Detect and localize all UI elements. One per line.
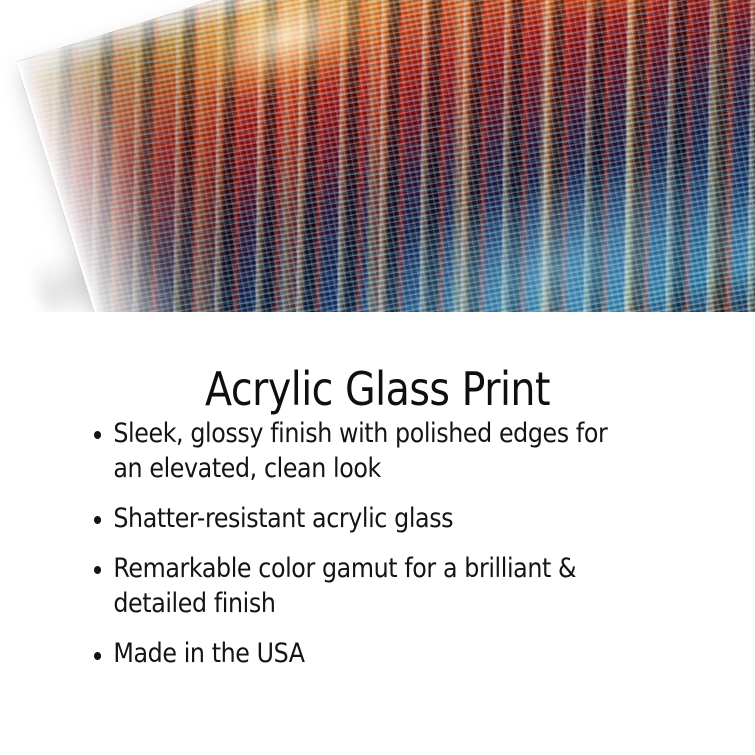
acrylic-polished-edge-bevel [16,0,755,312]
list-item: Made in the USA [94,636,631,671]
feature-text: Remarkable color gamut for a brilliant &… [113,553,576,619]
page-title: Acrylic Glass Print [53,366,702,412]
feature-text: Sleek, glossy finish with polished edges… [113,418,607,484]
product-copy-block: Acrylic Glass Print Sleek, glossy finish… [0,312,755,755]
bullet-dot-icon [94,566,101,574]
list-item: Remarkable color gamut for a brilliant &… [94,551,631,621]
list-item: Shatter-resistant acrylic glass [94,501,631,536]
product-hero-image[interactable] [0,0,755,312]
acrylic-print-panel [16,0,755,312]
bullet-dot-icon [94,431,101,439]
product-feature-card: Acrylic Glass Print Sleek, glossy finish… [0,0,755,755]
bullet-dot-icon [94,652,101,660]
feature-text: Shatter-resistant acrylic glass [113,503,453,534]
feature-text: Made in the USA [113,638,304,669]
list-item: Sleek, glossy finish with polished edges… [94,416,631,486]
feature-list: Sleek, glossy finish with polished edges… [94,416,704,672]
bullet-dot-icon [94,516,101,524]
